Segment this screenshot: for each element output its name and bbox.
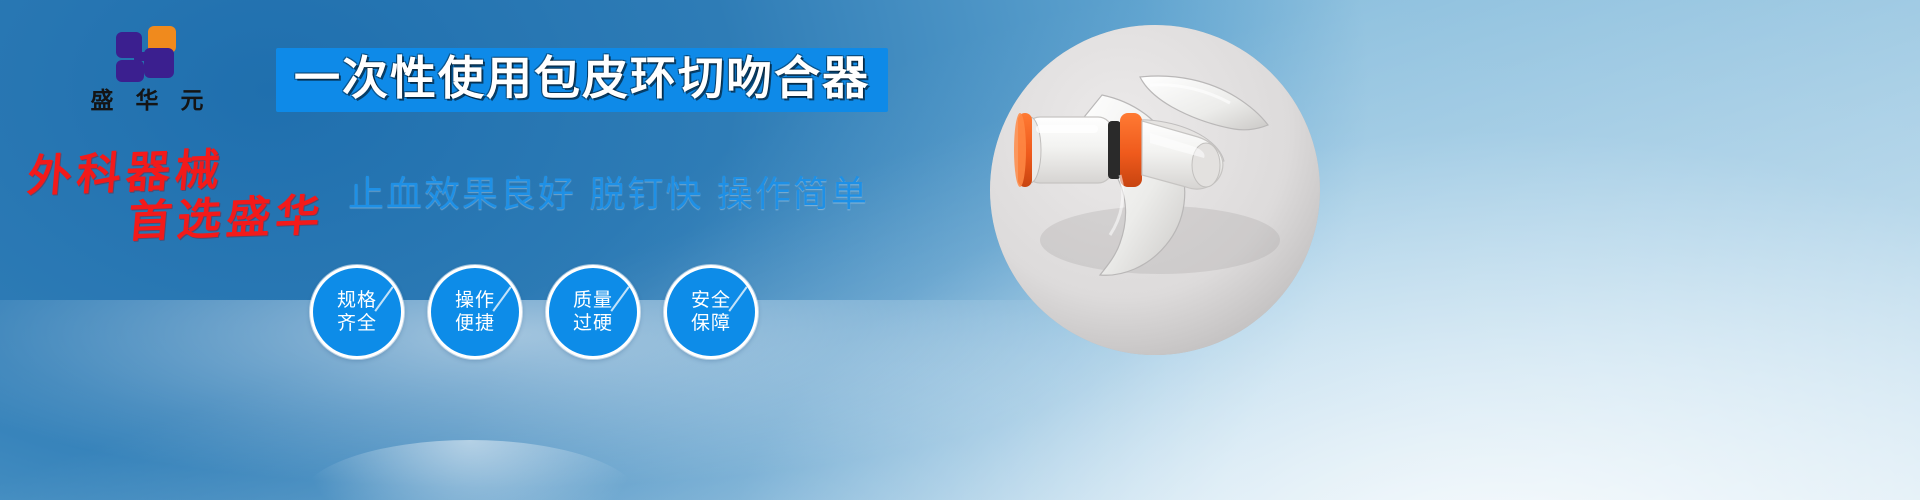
feature-badge-line-1: 规格 [337,289,377,312]
logo-square-bottom-left [116,60,144,82]
product-title-bar: 一次性使用包皮环切吻合器 [276,48,888,112]
feature-badge[interactable]: 规格 齐全 [310,265,404,359]
feature-badge-line-2: 保障 [691,312,731,335]
feature-badge[interactable]: 安全 保障 [664,265,758,359]
feature-badge-line-2: 过硬 [573,312,613,335]
slash-highlight-icon [610,286,629,311]
slash-highlight-icon [492,286,511,311]
feature-badge-line-1: 操作 [455,289,495,312]
calligraphy-slogan: 外科器械 首选盛华 [16,150,346,244]
feature-badge-line-2: 齐全 [337,312,377,335]
feature-badge-list: 规格 齐全 操作 便捷 质量 过硬 安全 保障 [310,265,758,359]
background-glow [0,300,1920,500]
background-bottom-arc [300,440,640,500]
slash-highlight-icon [374,286,393,311]
feature-badge-line-2: 便捷 [455,312,495,335]
logo-square-bottom-right [144,48,174,78]
feature-badge-line-1: 安全 [691,289,731,312]
brand-logo[interactable]: 盛 华 元 [62,26,232,124]
logo-mark-icon [116,26,178,84]
brand-name: 盛 华 元 [62,90,232,113]
product-image [990,25,1320,355]
calligraphy-line-2: 首选盛华 [13,193,348,249]
product-subtitle: 止血效果良好 脱钉快 操作简单 [348,165,869,217]
feature-badge[interactable]: 操作 便捷 [428,265,522,359]
slash-highlight-icon [728,286,747,311]
feature-badge[interactable]: 质量 过硬 [546,265,640,359]
product-title: 一次性使用包皮环切吻合器 [294,54,870,103]
promo-banner: 盛 华 元 外科器械 首选盛华 一次性使用包皮环切吻合器 止血效果良好 脱钉快 … [0,0,1920,500]
feature-badge-line-1: 质量 [573,289,613,312]
